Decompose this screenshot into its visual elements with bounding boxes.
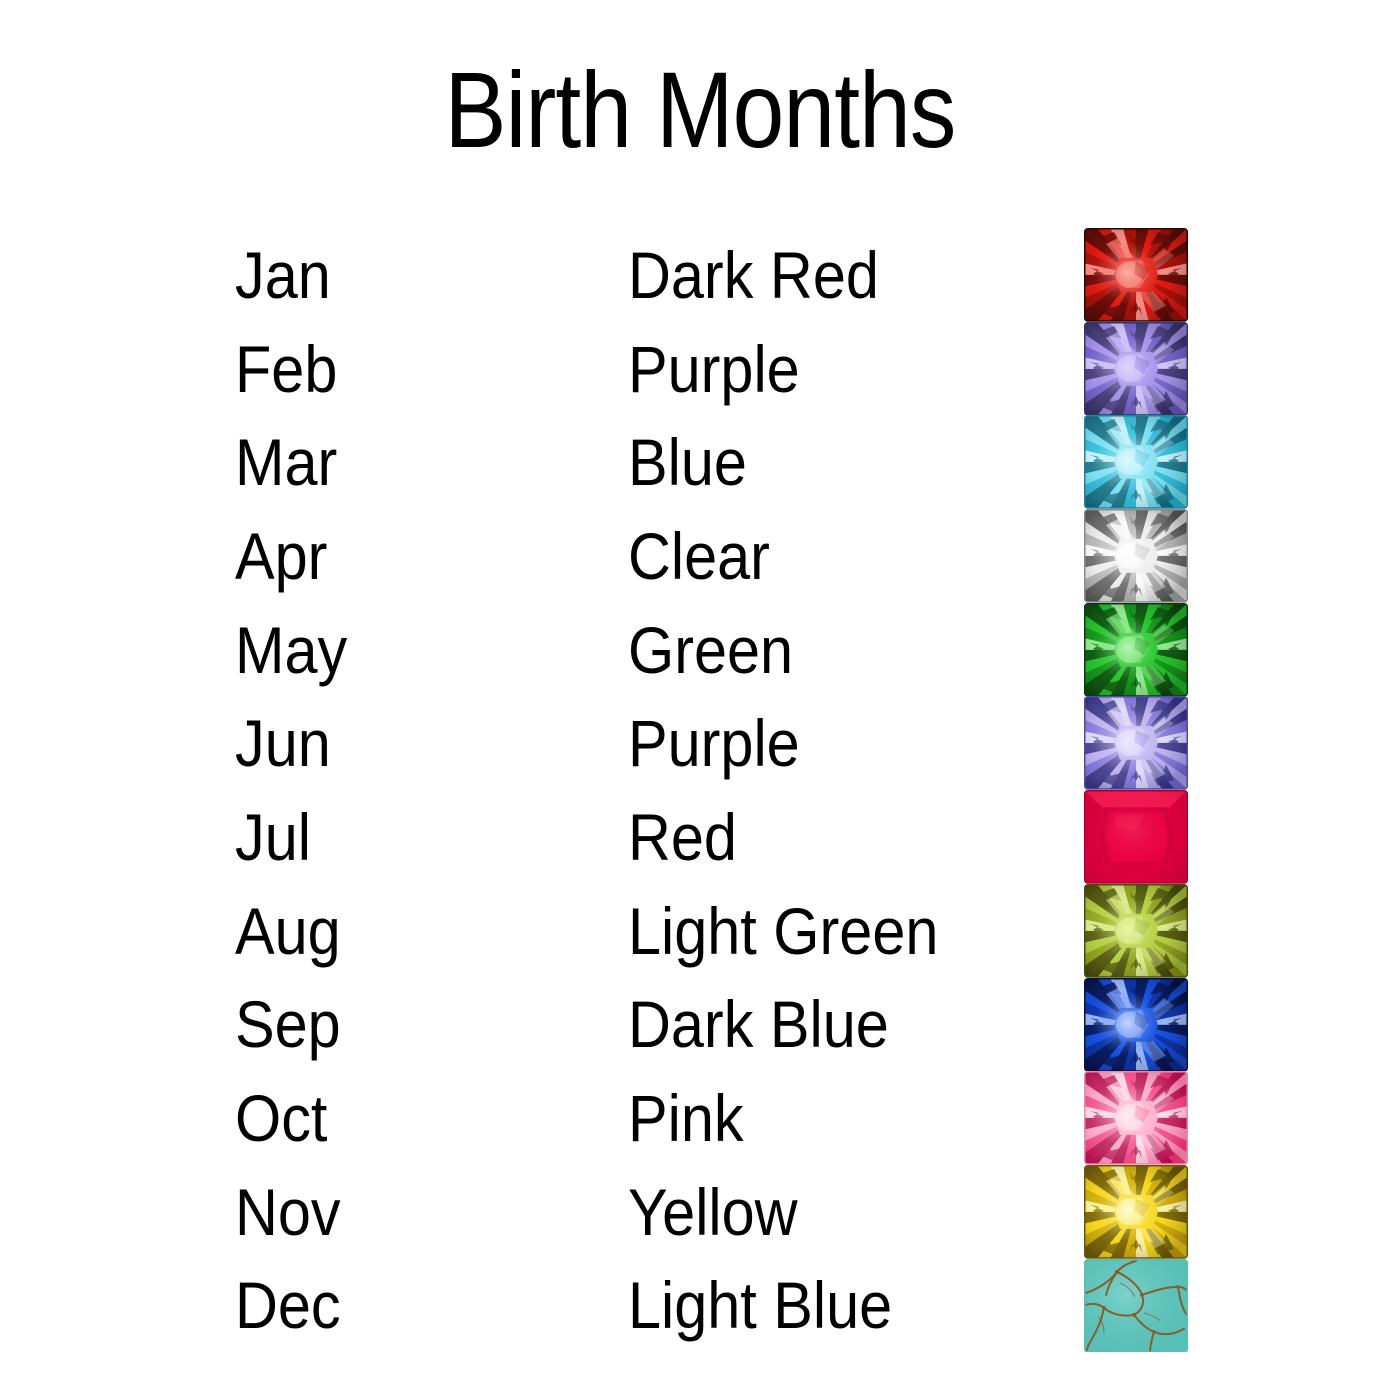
alexandrite-gem (1084, 696, 1188, 790)
color-label: Purple (628, 696, 800, 790)
table-row: NovYellow (0, 1165, 1400, 1259)
color-label: Light Green (628, 884, 938, 978)
aquamarine-gem (1084, 415, 1188, 509)
month-label: Jul (235, 790, 311, 884)
garnet-gem (1084, 228, 1188, 322)
month-label: Mar (235, 415, 337, 509)
peridot-gem (1084, 884, 1188, 978)
month-label: Aug (235, 884, 341, 978)
month-label: Sep (235, 978, 341, 1072)
color-label: Green (628, 603, 793, 697)
table-row: JanDark Red (0, 228, 1400, 322)
table-row: SepDark Blue (0, 978, 1400, 1072)
sapphire-gem (1084, 978, 1188, 1072)
month-label: Feb (235, 322, 337, 416)
color-label: Yellow (628, 1165, 798, 1259)
color-label: Clear (628, 509, 770, 603)
tourmaline-gem (1084, 1071, 1188, 1165)
diamond-gem (1084, 509, 1188, 603)
color-label: Red (628, 790, 737, 884)
month-label: Jan (235, 228, 331, 322)
color-label: Dark Blue (628, 978, 889, 1072)
month-label: Dec (235, 1259, 341, 1353)
table-row: FebPurple (0, 322, 1400, 416)
month-label: May (235, 603, 347, 697)
ruby-gem (1084, 790, 1188, 884)
month-label: Jun (235, 696, 331, 790)
turquoise-gem (1084, 1259, 1188, 1353)
table-row: AprClear (0, 509, 1400, 603)
color-label: Purple (628, 322, 800, 416)
table-row: MayGreen (0, 603, 1400, 697)
page-title: Birth Months (98, 56, 1302, 164)
month-label: Nov (235, 1165, 341, 1259)
citrine-gem (1084, 1165, 1188, 1259)
color-label: Dark Red (628, 228, 879, 322)
table-row: OctPink (0, 1071, 1400, 1165)
emerald-gem (1084, 603, 1188, 697)
color-label: Light Blue (628, 1259, 892, 1353)
amethyst-gem (1084, 322, 1188, 416)
color-label: Blue (628, 415, 747, 509)
table-row: AugLight Green (0, 884, 1400, 978)
month-label: Apr (235, 509, 327, 603)
birth-months-page: Birth Months JanDark Red (0, 0, 1400, 1400)
table-row: MarBlue (0, 415, 1400, 509)
table-row: DecLight Blue (0, 1259, 1400, 1353)
birth-months-table: JanDark Red FebPurple (0, 228, 1400, 1352)
table-row: JulRed (0, 790, 1400, 884)
month-label: Oct (235, 1071, 327, 1165)
color-label: Pink (628, 1071, 744, 1165)
table-row: JunPurple (0, 696, 1400, 790)
